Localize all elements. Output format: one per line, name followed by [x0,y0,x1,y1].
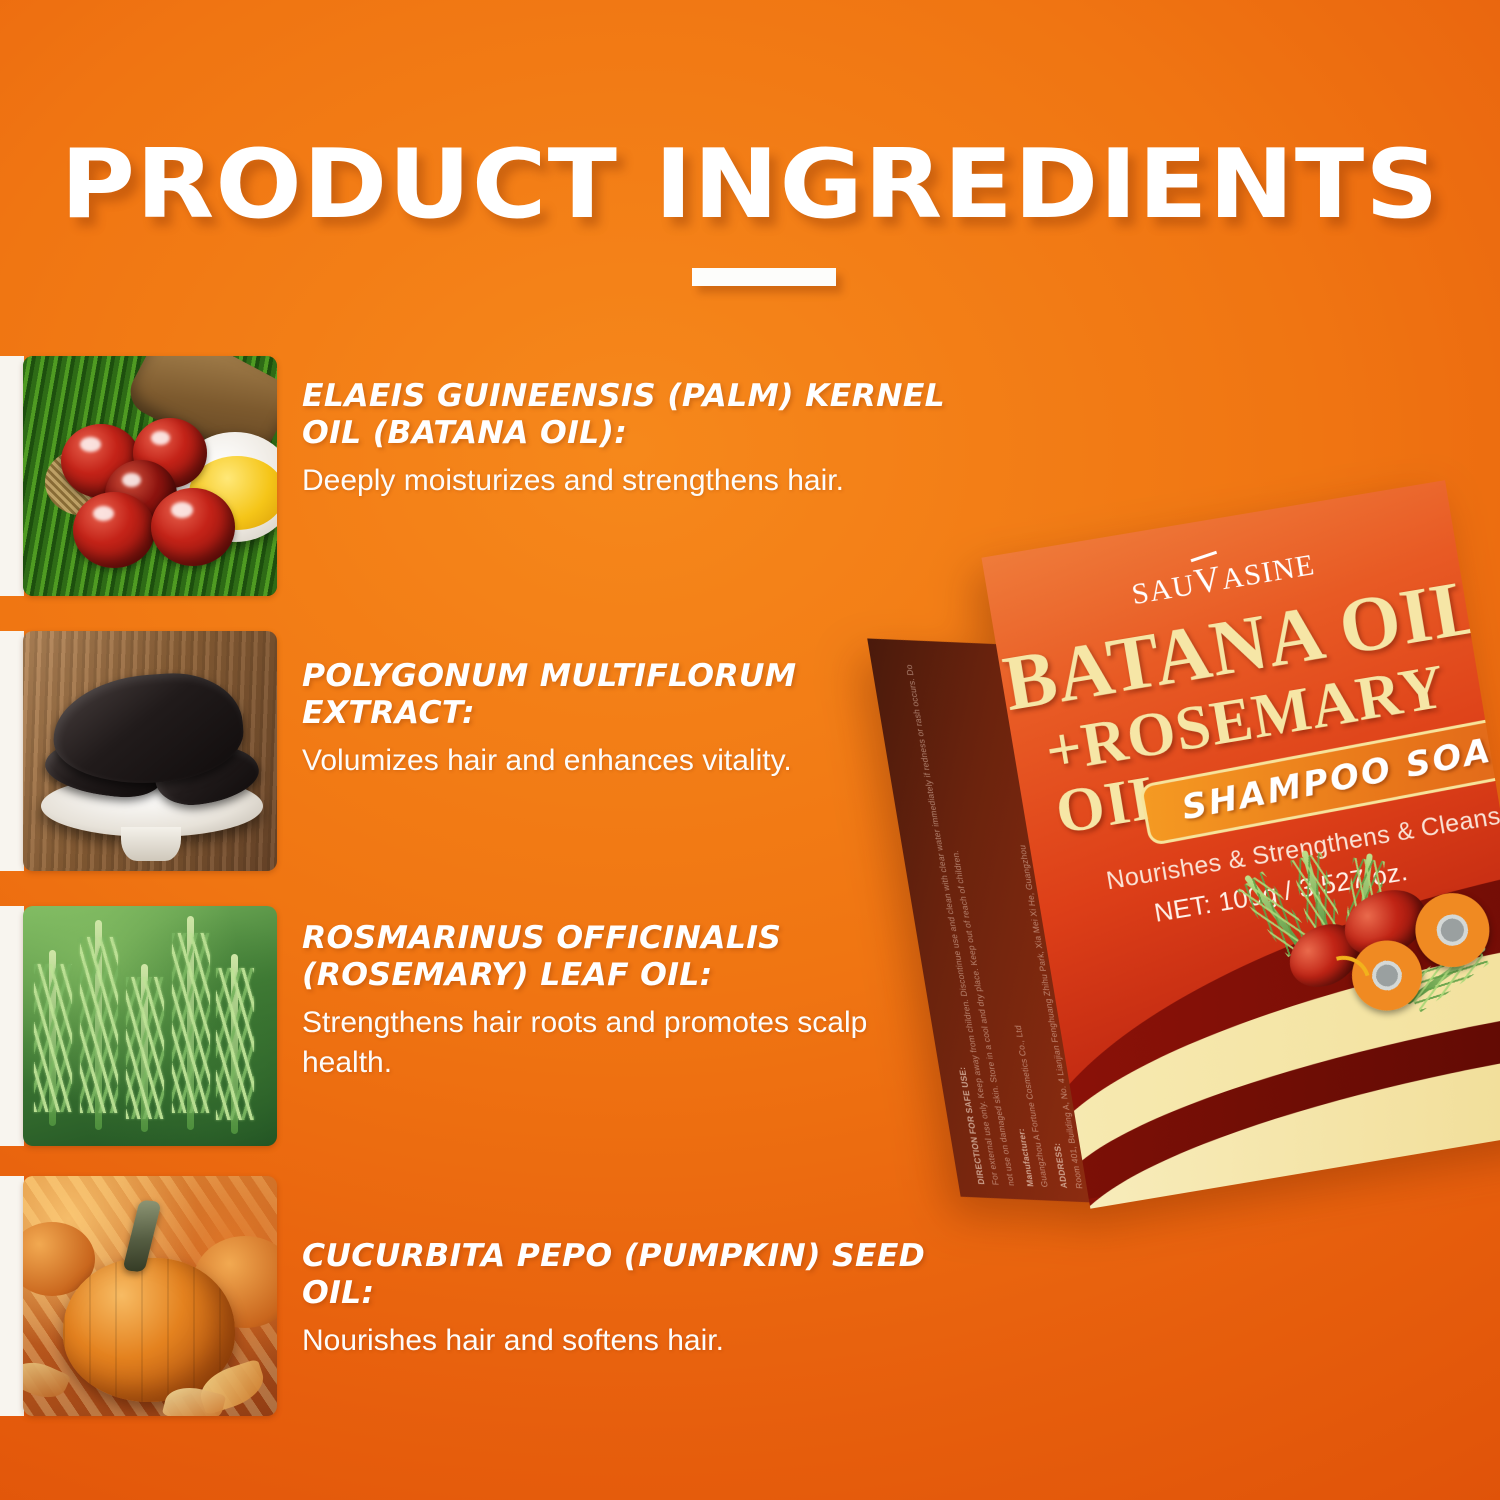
rosemary-sprig [141,964,148,1132]
wood-background [23,631,277,871]
palm-fruit-shape [151,488,235,566]
rosemary-sprig [187,916,194,1130]
ingredient-heading: ROSMARINUS OFFICINALIS (ROSEMARY) LEAF O… [302,920,962,994]
cream-strip-2 [0,631,24,871]
autumn-leaf-shape [23,1354,71,1405]
rosemary-sprig [49,950,56,1126]
ingredient-heading: ELAEIS GUINEENSIS (PALM) KERNEL OIL (BAT… [302,378,962,452]
page-title: PRODUCT INGREDIENTS [0,138,1500,233]
rosemary-sprig [95,920,102,1130]
product-box: DIRECTION FOR SAFE USE: For external use… [857,463,1500,1289]
infographic-canvas: PRODUCT INGREDIENTS [0,0,1500,1500]
rosemary-field-background [23,906,277,1146]
palm-leaf-background [23,356,277,596]
cream-strip-3 [0,906,24,1146]
ingredient-text-polygonum: POLYGONUM MULTIFLORUM EXTRACT: Volumizes… [302,658,962,781]
ingredient-text-rosemary: ROSMARINUS OFFICINALIS (ROSEMARY) LEAF O… [302,920,962,1082]
rosemary-sprig [231,954,238,1134]
ingredient-heading: CUCURBITA PEPO (PUMPKIN) SEED OIL: [302,1238,962,1312]
autumn-leaves-background [23,1176,277,1416]
ingredient-description: Volumizes hair and enhances vitality. [302,741,962,781]
ingredient-description: Deeply moisturizes and strengthens hair. [302,461,962,501]
ingredient-description: Nourishes hair and softens hair. [302,1321,962,1361]
ingredient-image-pumpkin [23,1176,277,1416]
ingredient-image-palm-fruit [23,356,277,596]
ingredient-heading: POLYGONUM MULTIFLORUM EXTRACT: [302,658,962,732]
header: PRODUCT INGREDIENTS [0,138,1500,233]
ingredient-text-palm: ELAEIS GUINEENSIS (PALM) KERNEL OIL (BAT… [302,378,962,501]
ingredient-text-pumpkin: CUCURBITA PEPO (PUMPKIN) SEED OIL: Nouri… [302,1238,962,1361]
ingredient-description: Strengthens hair roots and promotes scal… [302,1003,962,1083]
ingredient-image-rosemary [23,906,277,1146]
title-underline-rule [692,268,836,286]
cream-strip-4 [0,1176,24,1416]
cream-strip-1 [0,356,24,596]
ingredient-image-polygonum-root [23,631,277,871]
palm-fruit-shape [73,492,155,568]
pedestal-foot-shape [121,827,181,861]
